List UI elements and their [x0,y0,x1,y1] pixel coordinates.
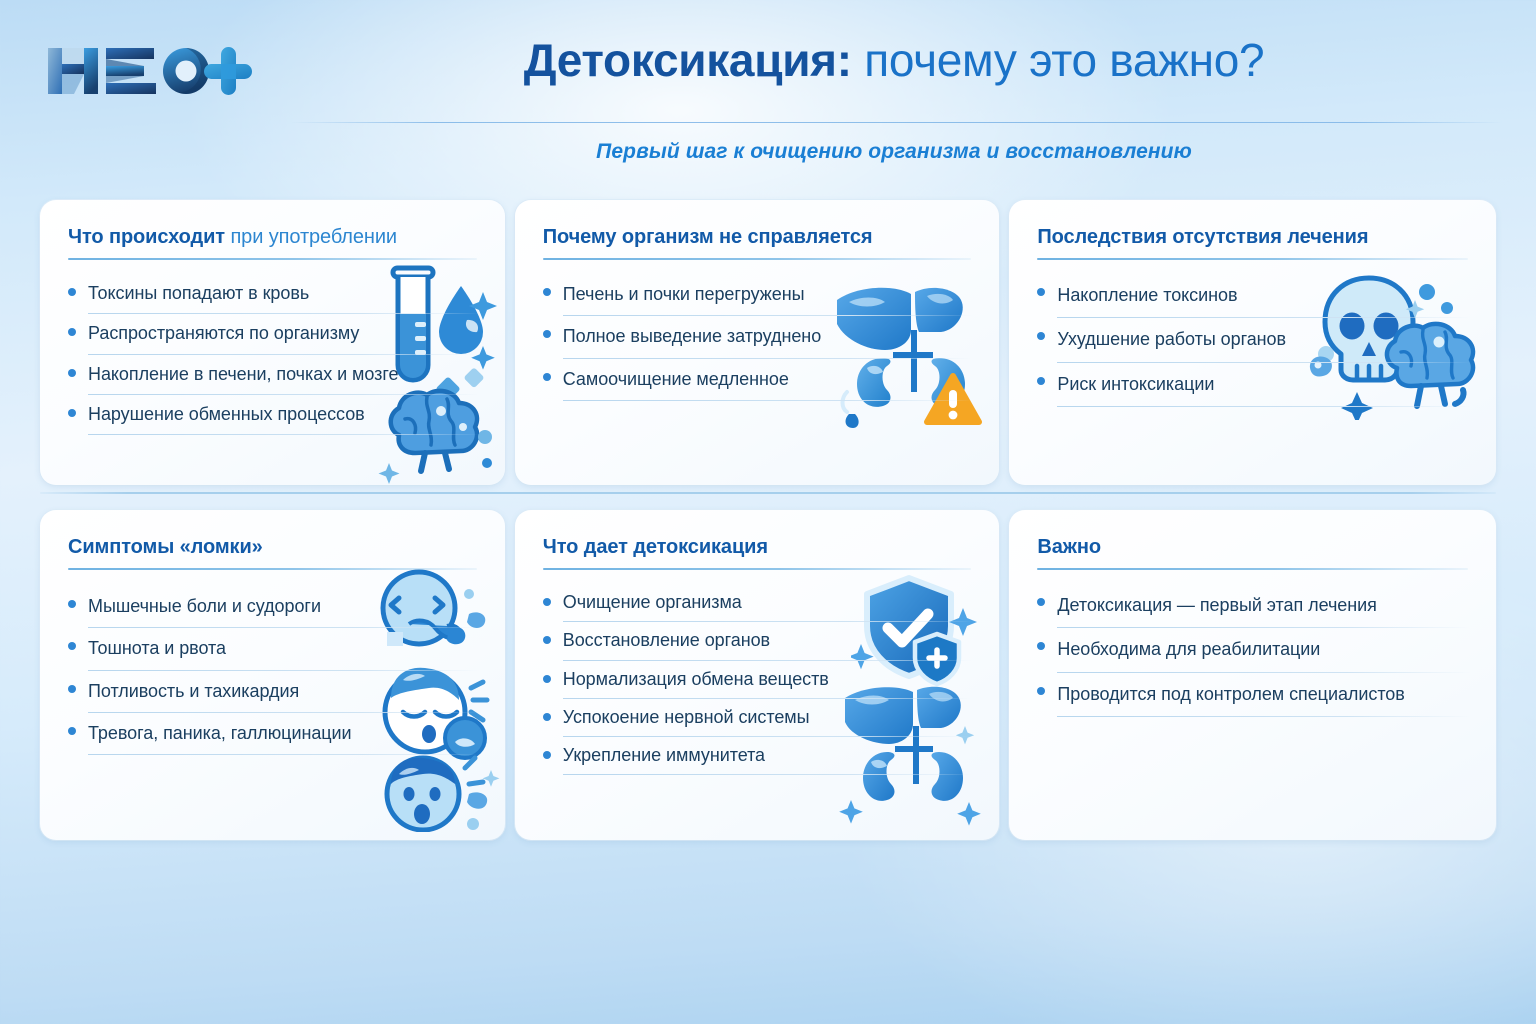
list-item-label: Риск интоксикации [1057,363,1470,406]
neo-plus-logo [44,40,256,102]
list-item-label: Нарушение обменных процессов [88,395,479,434]
list-item-label: Накопление токсинов [1057,274,1470,317]
list-item[interactable]: Ухудшение работы органов [1035,318,1470,362]
list-item[interactable]: Тошнота и рвота [66,628,479,670]
bullet-icon [68,600,76,608]
bullet-icon [1037,598,1045,606]
card-items-list: Токсины попадают в кровь Распространяютс… [66,274,479,435]
page-subtitle: Первый шаг к очищению организма и восста… [288,140,1500,164]
card-heading: Почему организм не справляется [543,226,972,249]
card-detox-benefits[interactable]: Что дает детоксикация [515,510,1000,840]
list-item-label: Накопление в печени, почках и мозге [88,355,479,394]
card-heading-divider [68,258,477,260]
list-item[interactable]: Риск интоксикации [1035,363,1470,407]
page-header: Детоксикация: почему это важно? Первый ш… [0,0,1536,182]
card-heading-light: при употреблении [225,226,397,248]
list-item-label: Проводится под контролем специалистов [1057,673,1470,716]
cards-row-top: Что происходит при употреблении [0,200,1536,485]
list-item-label: Необходима для реабилитации [1057,628,1470,671]
bullet-icon [68,409,76,417]
list-item-label: Укрепление иммунитета [563,737,974,774]
list-item[interactable]: Детоксикация — первый этап лечения [1035,584,1470,628]
list-item[interactable]: Печень и почки перегружены [541,274,974,316]
list-item-label: Тошнота и рвота [88,628,479,669]
item-underline [88,754,479,755]
list-item-label: Полное выведение затруднено [563,316,974,357]
card-heading: Что дает детоксикация [543,536,972,559]
bullet-icon [68,328,76,336]
card-heading: Что происходит при употреблении [68,226,477,249]
bullet-icon [543,288,551,296]
card-items-list: Очищение организма Восстановление органо… [541,584,974,775]
list-item[interactable]: Нарушение обменных процессов [66,395,479,435]
page-title-bold: Детоксикация: [524,34,852,86]
item-underline [1057,406,1470,407]
card-heading-bold: Важно [1037,536,1101,558]
card-heading: Последствия отсутствия лечения [1037,226,1468,249]
card-important[interactable]: Важно Детоксикация — первый этап лечения… [1009,510,1496,840]
item-underline [563,400,974,401]
card-heading-divider [543,568,972,570]
list-item[interactable]: Очищение организма [541,584,974,622]
item-underline [1057,716,1470,717]
list-item[interactable]: Накопление токсинов [1035,274,1470,318]
bullet-icon [543,713,551,721]
bullet-icon [1037,687,1045,695]
card-heading: Симптомы «ломки» [68,536,477,559]
card-heading-divider [1037,258,1468,260]
bullet-icon [68,685,76,693]
card-items-list: Мышечные боли и судороги Тошнота и рвота… [66,586,479,755]
bullet-icon [1037,377,1045,385]
list-item[interactable]: Проводится под контролем специалистов [1035,673,1470,717]
bullet-icon [1037,332,1045,340]
card-items-list: Печень и почки перегружены Полное выведе… [541,274,974,401]
bullet-icon [543,675,551,683]
title-divider [290,122,1502,123]
card-items-list: Накопление токсинов Ухудшение работы орг… [1035,274,1470,407]
bullet-icon [543,751,551,759]
list-item-label: Потливость и тахикардия [88,671,479,712]
card-heading-divider [543,258,972,260]
card-withdrawal-symptoms[interactable]: Симптомы «ломки» [40,510,505,840]
list-item[interactable]: Полное выведение затруднено [541,316,974,358]
card-heading: Важно [1037,536,1468,559]
bullet-icon [68,727,76,735]
card-heading-bold: Что дает детоксикация [543,536,768,558]
bullet-icon [543,598,551,606]
bullet-icon [543,636,551,644]
list-item[interactable]: Самоочищение медленное [541,359,974,401]
card-heading-bold: Почему организм не справляется [543,226,873,248]
bullet-icon [543,373,551,381]
bullet-icon [68,369,76,377]
cards-row-bottom: Симптомы «ломки» [0,510,1536,840]
bullet-icon [1037,642,1045,650]
list-item-label: Детоксикация — первый этап лечения [1057,584,1470,627]
bullet-icon [68,642,76,650]
card-items-list: Детоксикация — первый этап лечения Необх… [1035,584,1470,717]
list-item-label: Токсины попадают в кровь [88,274,479,313]
page-title-regular: почему это важно? [852,34,1265,86]
item-underline [88,434,479,435]
list-item-label: Распространяются по организму [88,314,479,353]
card-consequences[interactable]: Последствия отсутствия лечения [1009,200,1496,485]
list-item[interactable]: Потливость и тахикардия [66,671,479,713]
list-item-label: Успокоение нервной системы [563,699,974,736]
list-item-label: Ухудшение работы органов [1057,318,1470,361]
card-heading-divider [68,568,477,570]
page-title: Детоксикация: почему это важно? [288,36,1500,85]
bullet-icon [543,330,551,338]
card-why-body-fails[interactable]: Почему организм не справляется [515,200,1000,485]
list-item[interactable]: Тревога, паника, галлюцинации [66,713,479,755]
list-item-label: Нормализация обмена веществ [563,661,974,698]
list-item[interactable]: Укрепление иммунитета [541,737,974,775]
list-item[interactable]: Необходима для реабилитации [1035,628,1470,672]
card-what-happens[interactable]: Что происходит при употреблении [40,200,505,485]
list-item[interactable]: Накопление в печени, почках и мозге [66,355,479,395]
row-divider [40,492,1496,494]
card-heading-divider [1037,568,1468,570]
list-item[interactable]: Мышечные боли и судороги [66,586,479,628]
list-item[interactable]: Восстановление органов [541,622,974,660]
list-item[interactable]: Токсины попадают в кровь [66,274,479,314]
list-item-label: Тревога, паника, галлюцинации [88,713,479,754]
card-heading-bold: Последствия отсутствия лечения [1037,226,1368,248]
list-item-label: Очищение организма [563,584,974,621]
bullet-icon [1037,288,1045,296]
card-heading-bold: Что происходит [68,226,225,248]
list-item-label: Восстановление органов [563,622,974,659]
list-item-label: Печень и почки перегружены [563,274,974,315]
card-heading-bold: Симптомы «ломки» [68,536,263,558]
item-underline [563,774,974,775]
list-item[interactable]: Успокоение нервной системы [541,699,974,737]
bullet-icon [68,288,76,296]
cards-grid: Что происходит при употреблении [0,200,1536,840]
list-item[interactable]: Распространяются по организму [66,314,479,354]
list-item-label: Мышечные боли и судороги [88,586,479,627]
list-item-label: Самоочищение медленное [563,359,974,400]
list-item[interactable]: Нормализация обмена веществ [541,661,974,699]
